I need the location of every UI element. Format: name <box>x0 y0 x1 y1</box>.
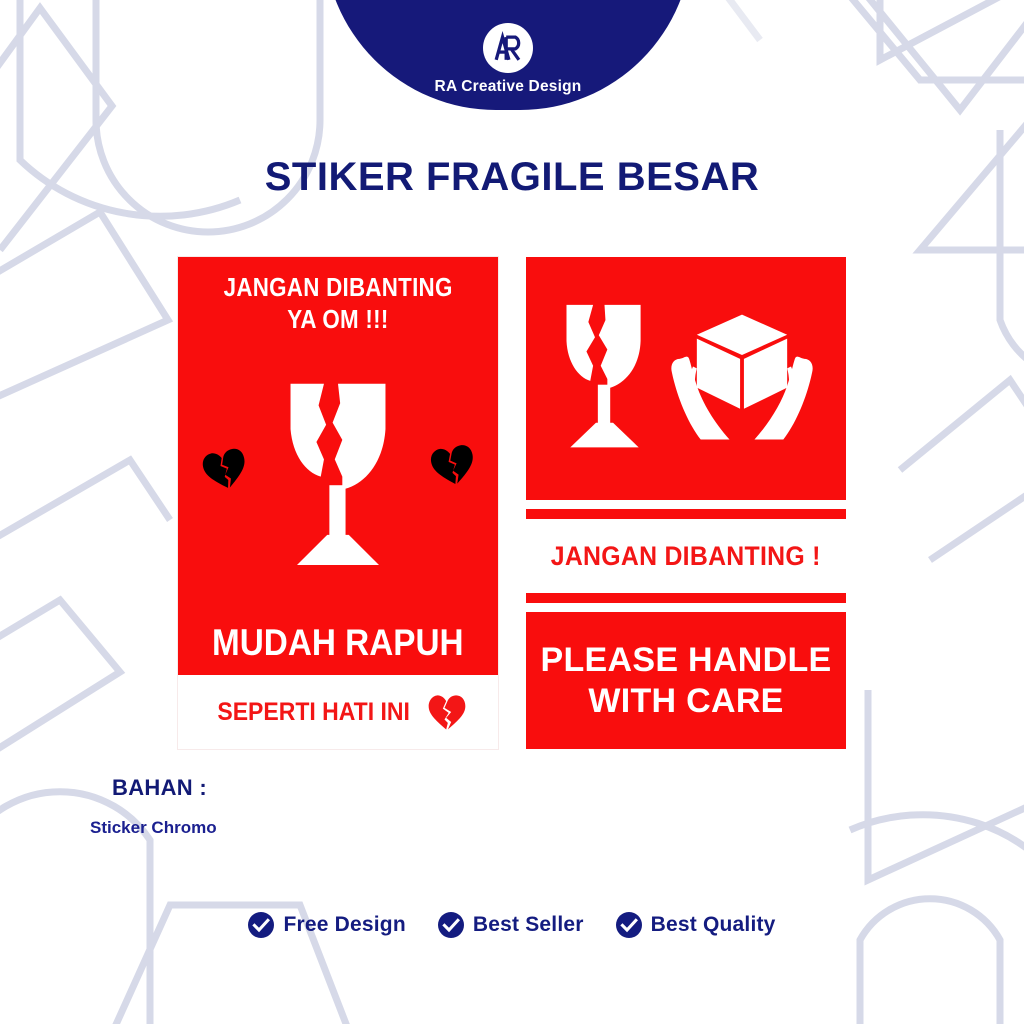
feature-free-design: Free Design <box>248 912 405 938</box>
sticker-left: JANGAN DIBANTING YA OM !!! <box>178 257 498 749</box>
ra-monogram-icon <box>488 28 528 68</box>
broken-glass-icon <box>557 299 652 459</box>
check-circle-icon <box>438 912 464 938</box>
sticker-right-mid-text: JANGAN DIBANTING ! <box>551 541 821 572</box>
sticker-left-headline-line1: JANGAN DIBANTING <box>224 274 453 300</box>
divider-gap-3 <box>526 584 846 593</box>
broken-heart-black-icon <box>430 444 476 486</box>
feature-label: Best Seller <box>473 913 584 937</box>
sticker-previews: JANGAN DIBANTING YA OM !!! <box>178 257 846 753</box>
brand-logo <box>483 23 533 73</box>
sticker-right-bottom-line2: WITH CARE <box>588 682 783 720</box>
feature-label: Free Design <box>283 913 405 937</box>
sticker-left-caption: SEPERTI HATI INI <box>217 698 410 727</box>
divider-gap-2 <box>526 519 846 528</box>
check-circle-icon <box>616 912 642 938</box>
sticker-left-footline: MUDAH RAPUH <box>212 624 464 661</box>
brand-name: RA Creative Design <box>435 78 582 96</box>
sticker-right-icon-panel <box>526 257 846 500</box>
sticker-right-mid-text-row: JANGAN DIBANTING ! <box>526 528 846 584</box>
sticker-left-headline-line2: YA OM !!! <box>287 306 388 332</box>
sticker-left-white-panel: SEPERTI HATI INI <box>178 675 498 749</box>
material-info: BAHAN : Sticker Chromo <box>112 775 217 838</box>
sticker-right-bottom-line1: PLEASE HANDLE <box>540 641 831 679</box>
sticker-left-icon-area <box>178 332 498 624</box>
sticker-left-red-panel: JANGAN DIBANTING YA OM !!! <box>178 257 498 675</box>
check-circle-icon <box>248 912 274 938</box>
divider-gap-4 <box>526 603 846 612</box>
broken-glass-icon <box>272 373 404 578</box>
material-label: BAHAN : <box>112 775 217 801</box>
material-value: Sticker Chromo <box>90 818 217 838</box>
sticker-right-bottom-panel: PLEASE HANDLE WITH CARE <box>526 612 846 749</box>
feature-badges: Free Design Best Seller Best Quality <box>0 912 1024 938</box>
feature-label: Best Quality <box>651 913 776 937</box>
page-title: STIKER FRAGILE BESAR <box>0 155 1024 200</box>
hands-holding-box-icon <box>668 303 816 455</box>
divider-red-2 <box>526 593 846 603</box>
broken-heart-black-icon <box>202 448 248 490</box>
feature-best-quality: Best Quality <box>616 912 776 938</box>
feature-best-seller: Best Seller <box>438 912 584 938</box>
divider-gap-1 <box>526 500 846 509</box>
divider-red-1 <box>526 509 846 519</box>
broken-heart-red-icon <box>427 693 467 731</box>
sticker-right: JANGAN DIBANTING ! PLEASE HANDLE WITH CA… <box>526 257 846 749</box>
